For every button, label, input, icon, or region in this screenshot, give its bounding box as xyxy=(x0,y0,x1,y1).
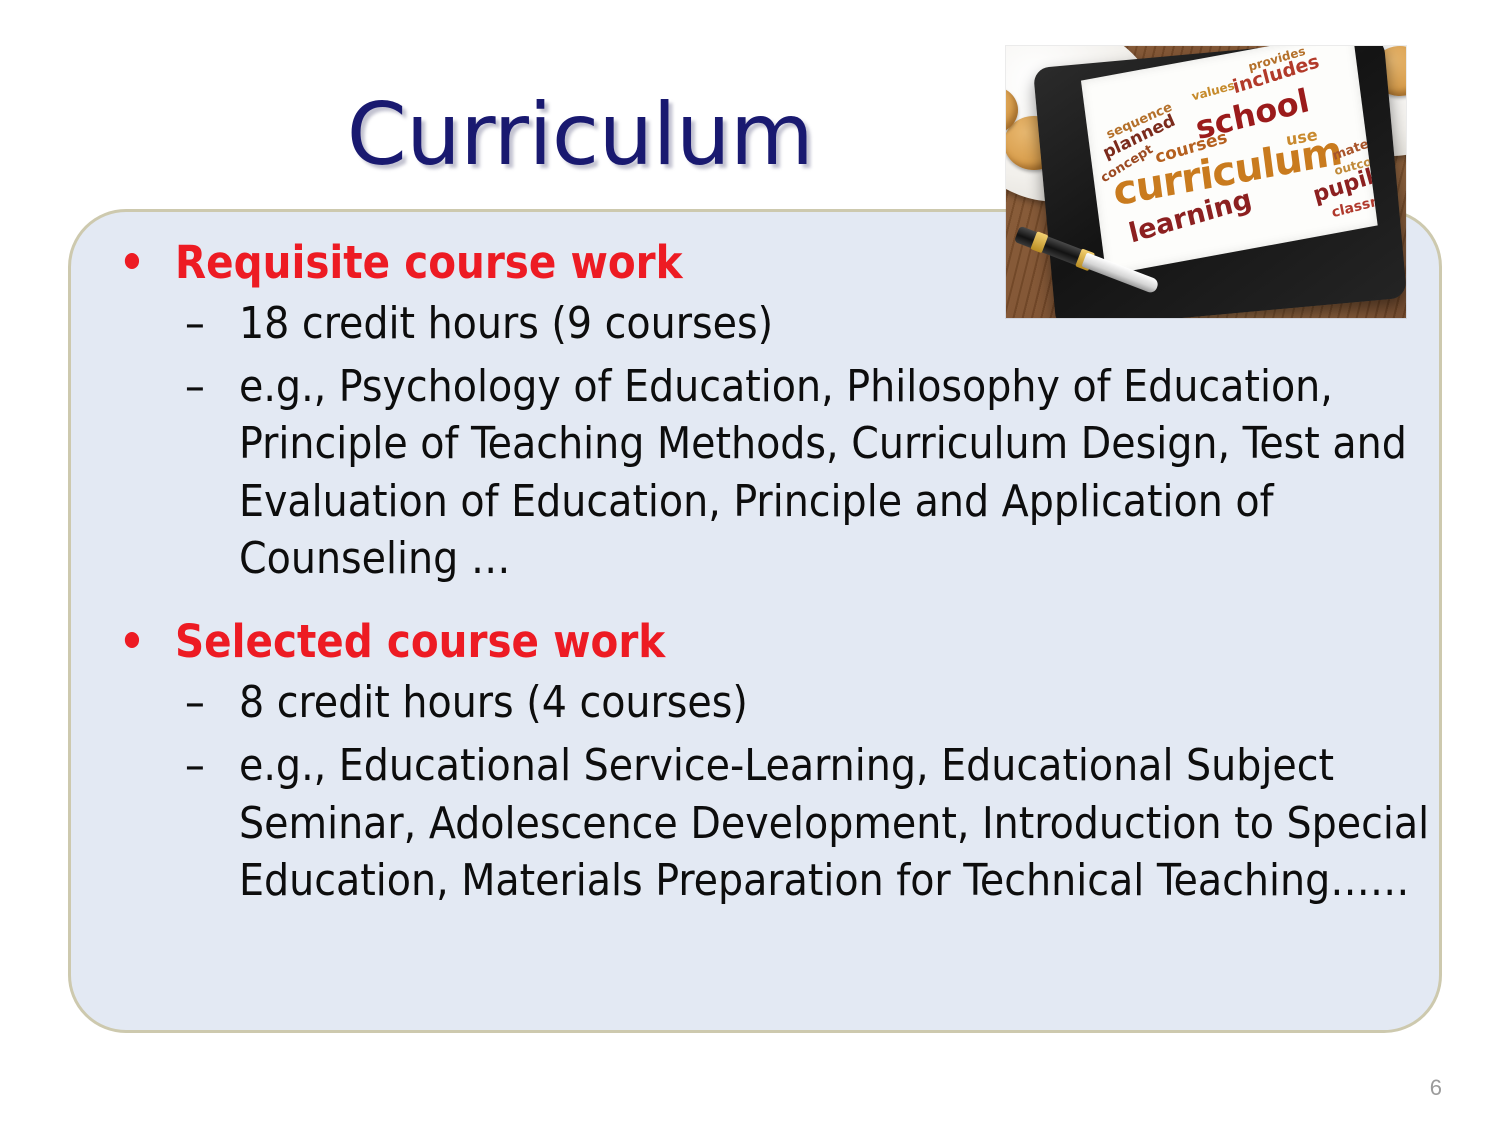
bullet-level2-selected-examples: – e.g., Educational Service-Learning, Ed… xyxy=(89,737,1435,909)
bullet-spacer xyxy=(89,593,1435,605)
slide-canvas: Curriculum • Requisite course work – 18 … xyxy=(0,0,1500,1125)
content-panel: • Requisite course work – 18 credit hour… xyxy=(68,209,1442,1033)
bullet-dash-icon: – xyxy=(185,674,205,731)
tablet-device: curriculum school learning planned cours… xyxy=(1033,46,1406,318)
bullet-level2-label: e.g., Psychology of Education, Philosoph… xyxy=(239,358,1435,587)
bullet-level1-selected: • Selected course work xyxy=(89,615,1435,668)
bullet-dash-icon: – xyxy=(185,358,205,415)
bullet-dot-icon: • xyxy=(119,615,145,668)
bullet-level2-label: 8 credit hours (4 courses) xyxy=(239,674,1435,731)
word-cloud: curriculum school learning planned cours… xyxy=(1081,46,1378,275)
bullet-dash-icon: – xyxy=(185,295,205,352)
tablet-screen: curriculum school learning planned cours… xyxy=(1081,46,1378,275)
curriculum-tablet-photo: curriculum school learning planned cours… xyxy=(1006,46,1406,318)
word-cloud-term-values: values xyxy=(1191,79,1236,102)
bullet-dot-icon: • xyxy=(119,236,145,289)
bullet-level1-label: Requisite course work xyxy=(175,236,683,289)
bullet-level2-requisite-examples: – e.g., Psychology of Education, Philoso… xyxy=(89,358,1435,587)
bullet-level2-label: e.g., Educational Service-Learning, Educ… xyxy=(239,737,1435,909)
bullet-level2-credit-hours-8: – 8 credit hours (4 courses) xyxy=(89,674,1435,731)
bullet-dash-icon: – xyxy=(185,737,205,794)
page-number: 6 xyxy=(1430,1075,1442,1101)
bullet-level1-label: Selected course work xyxy=(175,615,665,668)
